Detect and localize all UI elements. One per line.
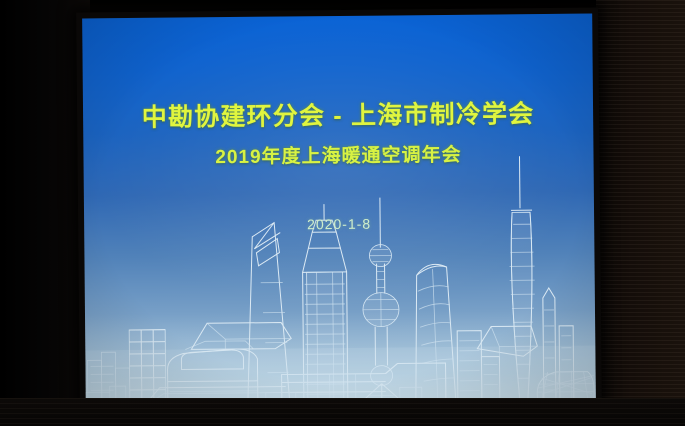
left-green-tower: [129, 330, 166, 404]
slide-subtitle: 2019年度上海暖通空调年会: [83, 139, 593, 171]
city-skyline-line-art: [83, 150, 595, 405]
right-slat-wall: [596, 0, 685, 426]
projection-screen: 中勘协建环分会 - 上海市制冷学会 2019年度上海暖通空调年会 2020-1-…: [82, 14, 596, 405]
conference-room: 中勘协建环分会 - 上海市制冷学会 2019年度上海暖通空调年会 2020-1-…: [0, 0, 685, 426]
projection-screen-frame: 中勘协建环分会 - 上海市制冷学会 2019年度上海暖通空调年会 2020-1-…: [76, 8, 602, 411]
train-station-canopy: [191, 322, 291, 349]
jin-mao-tower: [302, 204, 348, 402]
floor-wall: [0, 398, 685, 426]
slide-title: 中勘协建环分会 - 上海市制冷学会: [83, 94, 593, 135]
